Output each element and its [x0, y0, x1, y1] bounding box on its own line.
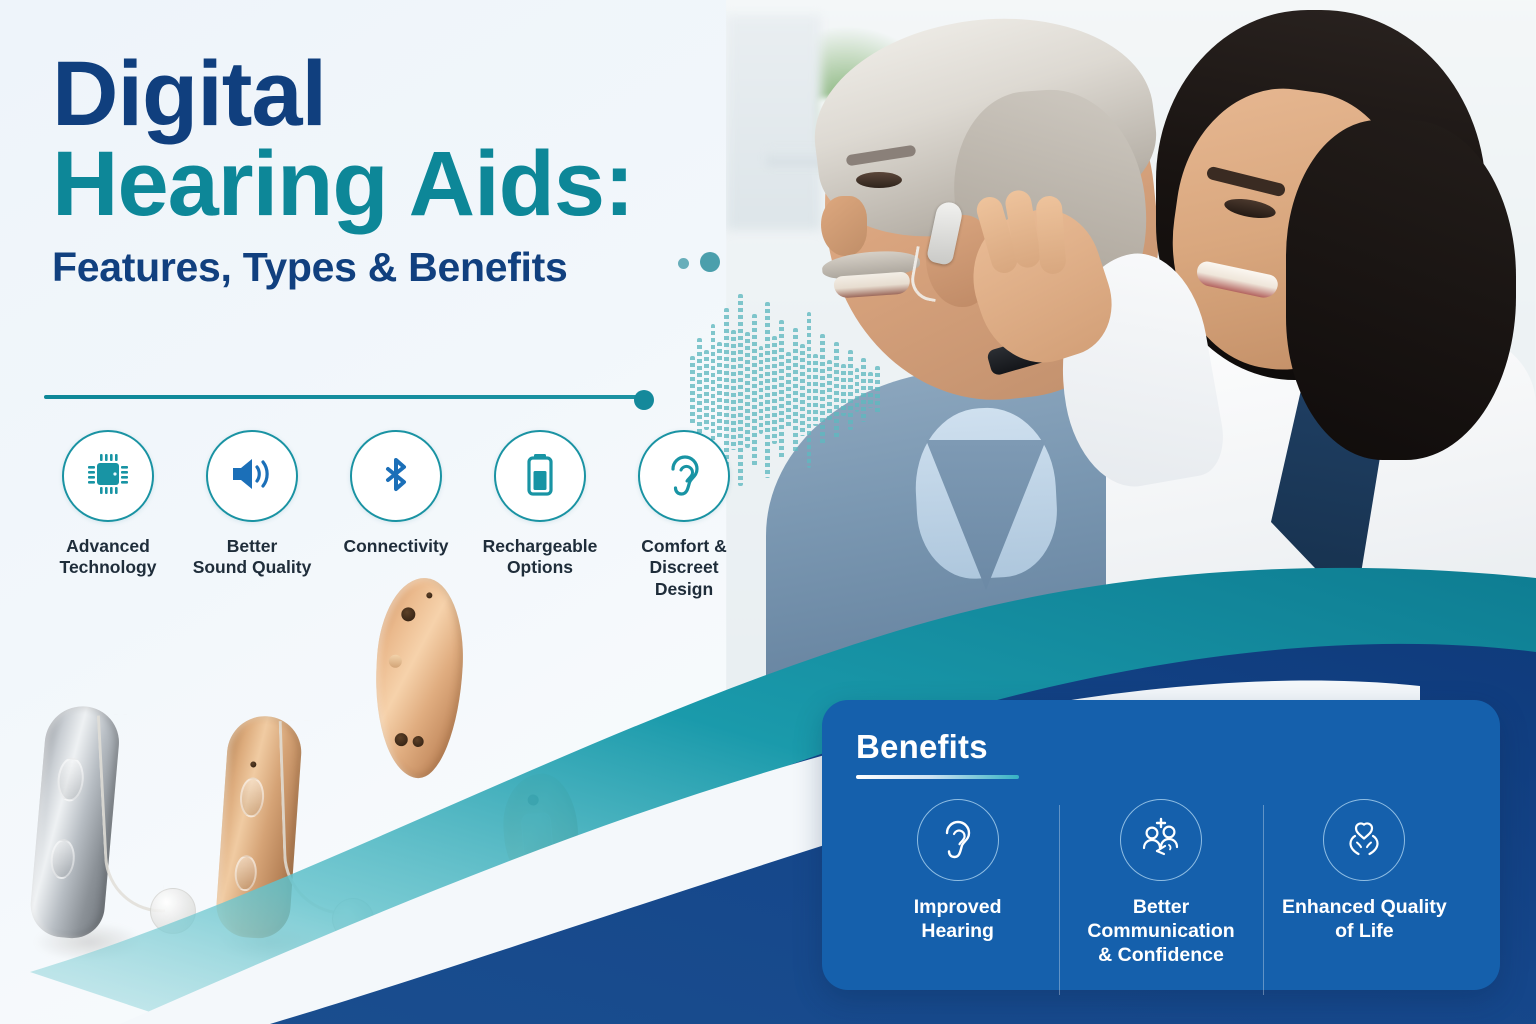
- feature-icon-badge: [494, 430, 586, 522]
- microchip-icon: [83, 449, 133, 504]
- feature-icon-badge: [638, 430, 730, 522]
- infographic-canvas: Digital Hearing Aids: Features, Types & …: [0, 0, 1536, 1024]
- feature-label-line1: Advanced: [44, 536, 172, 557]
- benefit-label: Enhanced Quality of Life: [1269, 895, 1460, 943]
- benefits-items-row: Improved Hearing: [856, 799, 1466, 968]
- divider-dot: [634, 390, 654, 410]
- ear-icon: [659, 449, 709, 504]
- feature-icon-badge: [350, 430, 442, 522]
- audiologist-finger: [1035, 195, 1066, 275]
- battery-icon: [515, 449, 565, 504]
- man-nose: [821, 196, 867, 256]
- benefit-label: Better Communication & Confidence: [1065, 895, 1256, 968]
- feature-label-line1: Better: [188, 536, 316, 557]
- bluetooth-icon: [371, 449, 421, 504]
- man-eye: [856, 172, 902, 188]
- title-line-2: Hearing Aids:: [52, 138, 752, 232]
- benefit-enhanced-quality-of-life[interactable]: Enhanced Quality of Life: [1263, 799, 1466, 943]
- divider-line: [44, 395, 644, 399]
- feature-label-line1: Rechargeable: [476, 536, 604, 557]
- page-title: Digital Hearing Aids: Features, Types & …: [52, 48, 752, 291]
- benefit-icon-badge: [917, 799, 999, 881]
- feature-icon-badge: [206, 430, 298, 522]
- benefits-panel: Benefits Improved Hearing: [822, 700, 1500, 990]
- benefit-label-line2: Hearing: [862, 919, 1053, 943]
- benefits-heading-underline: [856, 775, 1019, 779]
- benefit-icon-badge: [1323, 799, 1405, 881]
- feature-label-line1: Connectivity: [332, 536, 460, 557]
- page-subtitle: Features, Types & Benefits: [52, 244, 752, 291]
- speaker-volume-icon: [227, 449, 277, 504]
- benefit-improved-hearing[interactable]: Improved Hearing: [856, 799, 1059, 943]
- benefit-label-line2: & Confidence: [1065, 943, 1256, 967]
- benefits-heading: Benefits: [856, 728, 1466, 766]
- feature-label: Connectivity: [332, 536, 460, 557]
- benefit-better-communication[interactable]: Better Communication & Confidence: [1059, 799, 1262, 968]
- feature-label-line1: Comfort &: [620, 536, 748, 557]
- benefit-icon-badge: [1120, 799, 1202, 881]
- benefit-label-line1: Better Communication: [1065, 895, 1256, 943]
- benefit-label: Improved Hearing: [862, 895, 1053, 943]
- benefit-label-line1: Improved: [862, 895, 1053, 919]
- benefit-label-line1: Enhanced Quality: [1269, 895, 1460, 919]
- feature-icon-badge: [62, 430, 154, 522]
- people-conversation-icon: [1136, 813, 1186, 868]
- ear-outline-icon: [934, 814, 982, 867]
- hands-heart-icon: [1339, 813, 1389, 868]
- benefit-label-line2: of Life: [1269, 919, 1460, 943]
- audiologist-hair-back: [1286, 120, 1516, 460]
- title-divider: [44, 390, 664, 404]
- title-line-1: Digital: [52, 48, 752, 142]
